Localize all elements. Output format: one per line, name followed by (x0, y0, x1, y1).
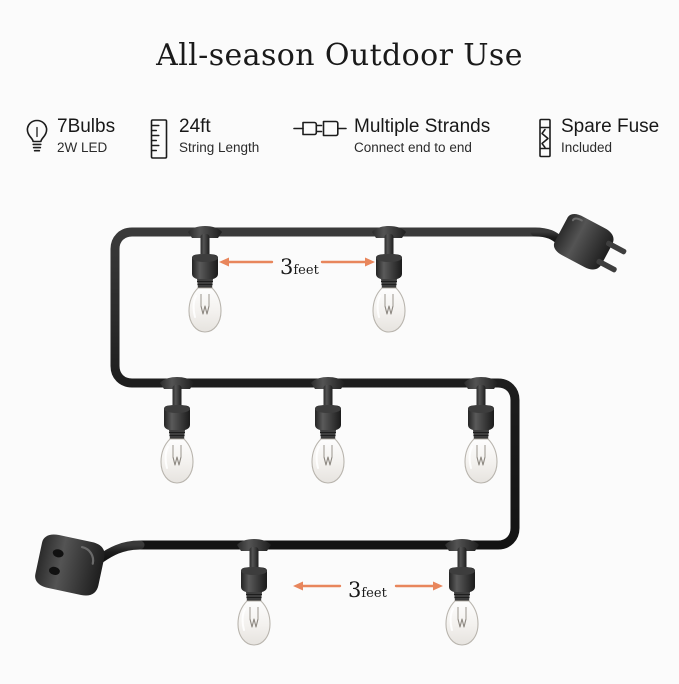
measurement-label-row1: 3feet (280, 255, 319, 279)
light-bulb-icon (22, 116, 52, 162)
ruler-icon (144, 116, 174, 162)
measurement-unit-1: feet (293, 263, 318, 278)
measurement-label-row3: 3feet (348, 578, 387, 602)
feature-bulbs-subtitle: 2W LED (57, 139, 115, 156)
bulb-7 (445, 539, 479, 645)
bulb-5 (464, 377, 498, 483)
feature-fuse-subtitle: Included (561, 139, 659, 156)
string-light-diagram: 3feet 3feet (0, 180, 679, 679)
measurement-value-1: 3 (280, 255, 293, 279)
feature-strands-title: Multiple Strands (354, 116, 490, 137)
bulb-4 (311, 377, 345, 483)
feature-bulbs-title: 7Bulbs (57, 116, 115, 137)
plug-connect-icon (291, 116, 349, 162)
feature-fuse: Spare Fuse Included (534, 116, 659, 162)
feature-length: 24ft String Length (144, 116, 259, 162)
bulb-2 (372, 226, 406, 332)
feature-length-title: 24ft (179, 116, 259, 137)
measurement-value-2: 3 (348, 578, 361, 602)
feature-list: 7Bulbs 2W LED 24ft String Length (16, 114, 664, 176)
feature-strands: Multiple Strands Connect end to end (291, 116, 490, 162)
feature-fuse-title: Spare Fuse (561, 116, 659, 137)
feature-bulbs: 7Bulbs 2W LED (22, 116, 115, 162)
measurement-unit-2: feet (361, 586, 386, 601)
product-infographic: All-season Outdoor Use 7Bulbs 2W LED (0, 0, 679, 679)
female-socket-connector (33, 532, 140, 598)
feature-length-subtitle: String Length (179, 139, 259, 156)
bulb-6 (237, 539, 271, 645)
page-title: All-season Outdoor Use (0, 38, 679, 73)
feature-strands-subtitle: Connect end to end (354, 139, 490, 156)
fuse-icon (534, 116, 556, 162)
male-plug-connector (535, 210, 631, 281)
bulb-3 (160, 377, 194, 483)
string-light-svg (0, 180, 679, 679)
bulb-1 (188, 226, 222, 332)
